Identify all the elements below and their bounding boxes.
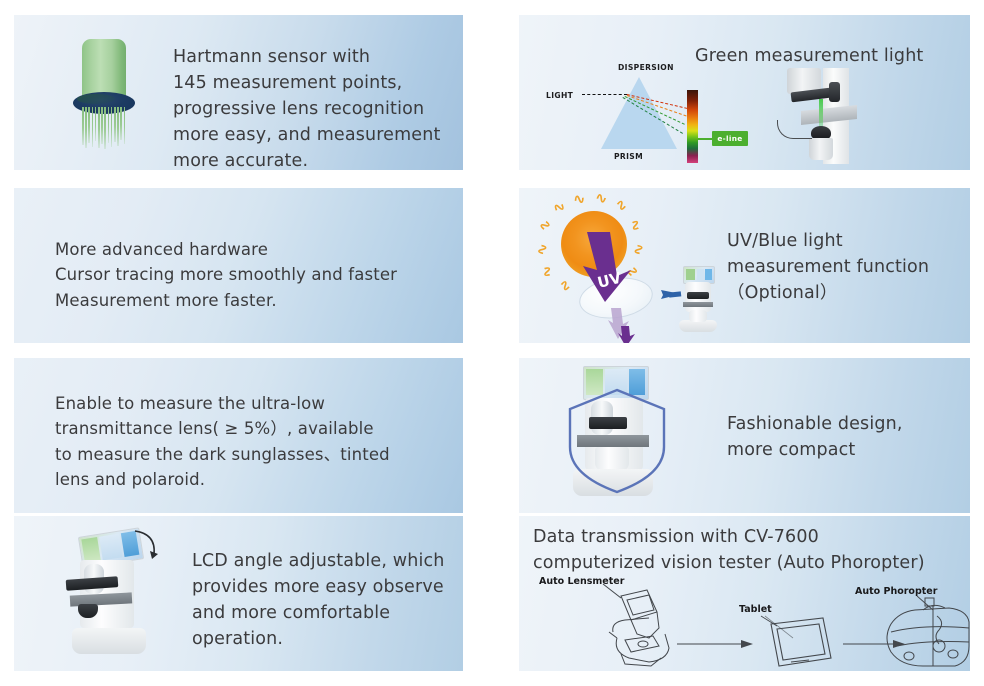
- label-light: LIGHT: [546, 91, 573, 100]
- lensmeter-with-shield: [559, 363, 679, 508]
- prism-triangle: [601, 77, 677, 149]
- lensmeter-green-beam-photo: [771, 68, 867, 164]
- panel-text-uv-blue-light: UV/Blue light measurement function （Opti…: [727, 228, 962, 306]
- data-transmission-flow: Auto Lensmeter Tablet Auto Phoropter: [525, 576, 970, 668]
- panel-lcd-angle-adjustable: LCD angle adjustable, which provides mor…: [14, 516, 463, 671]
- panel-hartmann-sensor: Hartmann sensor with 145 measurement poi…: [14, 15, 463, 170]
- panel-data-transmission: Data transmission with CV-7600 computeri…: [519, 516, 970, 671]
- lensmeter-tilted-lcd: [58, 524, 178, 666]
- incoming-light-ray: [582, 94, 627, 95]
- eline-badge: e-line: [712, 131, 748, 146]
- panel-advanced-hardware: More advanced hardware Cursor tracing mo…: [14, 188, 463, 343]
- label-dispersion: DISPERSION: [618, 63, 674, 72]
- panel-text-advanced-hardware: More advanced hardware Cursor tracing mo…: [55, 237, 455, 313]
- panel-green-measurement-light: Green measurement light DISPERSION LIGHT…: [519, 15, 970, 170]
- lensmeter-small-device: [675, 266, 721, 334]
- uv-arrow-icon: UV: [575, 232, 645, 304]
- shield-icon: [565, 387, 669, 495]
- sensor-measurement-rays: [82, 107, 126, 149]
- prism-dispersion-diagram: DISPERSION LIGHT PRISM e-line: [535, 63, 750, 163]
- flow-diagram-linework: [525, 576, 970, 668]
- feature-highlight-sheet: Hartmann sensor with 145 measurement poi…: [0, 0, 984, 686]
- eline-connector: [698, 138, 712, 140]
- panel-fashionable-design: Fashionable design, more compact: [519, 358, 970, 513]
- panel-ultra-low-transmittance: Enable to measure the ultra-low transmit…: [14, 358, 463, 513]
- spectrum-bar: [687, 90, 698, 163]
- panel-text-fashionable-design: Fashionable design, more compact: [727, 411, 962, 463]
- hartmann-sensor-illustration: [69, 35, 139, 153]
- sun-uv-lens-illustration: ∿ ∿ ∿ ∿ ∿ ∿ ∿ ∿ ∿ ∿ ∿ ∿ UV: [525, 190, 725, 342]
- panel-uv-blue-light: ∿ ∿ ∿ ∿ ∿ ∿ ∿ ∿ ∿ ∿ ∿ ∿ UV: [519, 188, 970, 343]
- panel-text-ultra-low-transmittance: Enable to measure the ultra-low transmit…: [55, 391, 455, 493]
- label-prism: PRISM: [614, 152, 643, 161]
- uv-output-arrow-icon: [617, 326, 637, 343]
- rotation-arrow-icon: [132, 528, 162, 562]
- panel-text-lcd-angle: LCD angle adjustable, which provides mor…: [192, 548, 462, 652]
- panel-text-data-transmission: Data transmission with CV-7600 computeri…: [533, 524, 970, 576]
- panel-text-hartmann: Hartmann sensor with 145 measurement poi…: [173, 44, 463, 170]
